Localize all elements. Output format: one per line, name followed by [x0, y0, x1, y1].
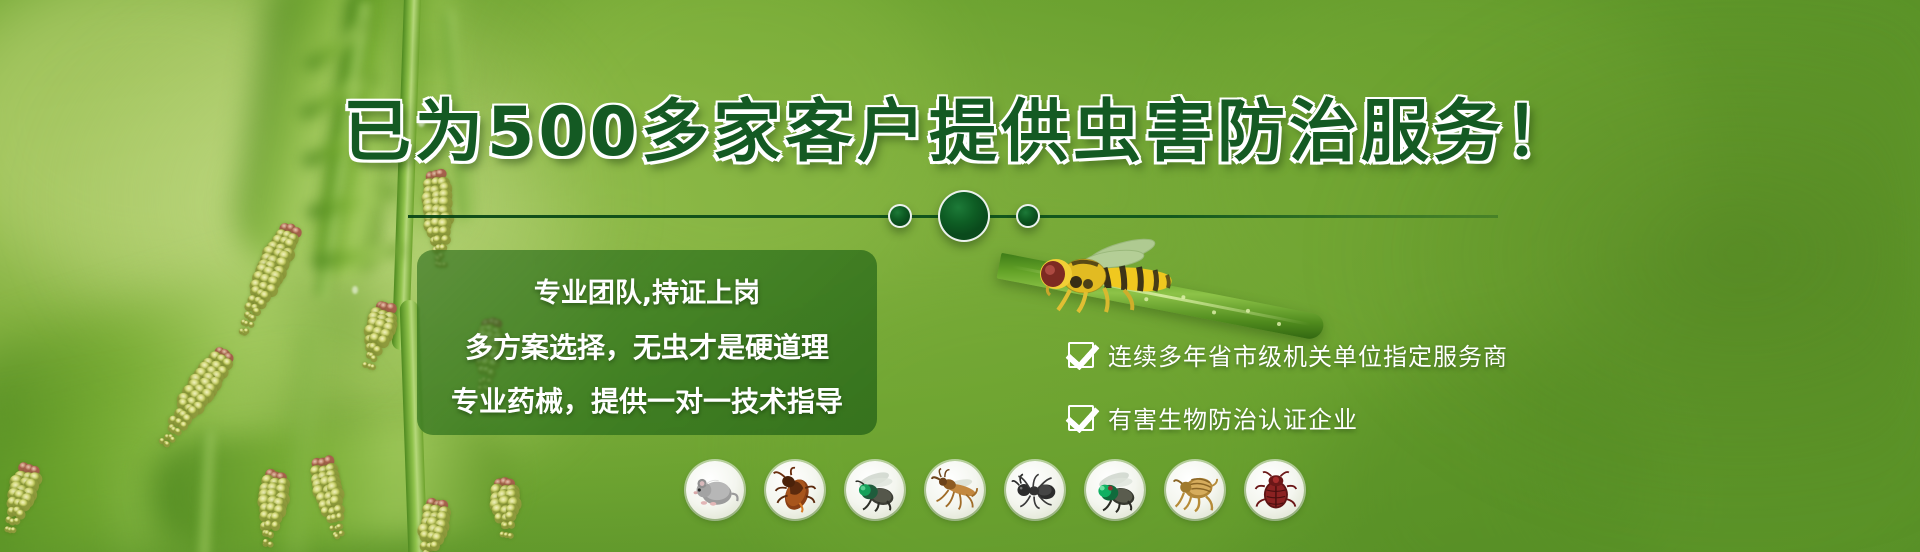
- list-item: 连续多年省市级机关单位指定服务商: [1068, 337, 1508, 372]
- cockroach-icon[interactable]: [766, 461, 824, 519]
- checklist-label: 连续多年省市级机关单位指定服务商: [1108, 337, 1508, 372]
- pest-icon-row: [686, 461, 1304, 519]
- catkin-spike: [418, 498, 447, 552]
- blowfly-icon[interactable]: [1086, 461, 1144, 519]
- feature-highlight-box: 专业团队,持证上岗 多方案选择，无虫才是硬道理 专业药械，提供一对一技术指导: [417, 250, 877, 435]
- bedbug-icon[interactable]: [1246, 461, 1304, 519]
- dot-small-left: [888, 204, 912, 228]
- housefly-icon[interactable]: [846, 461, 904, 519]
- mosquito-icon[interactable]: [926, 461, 984, 519]
- mouse-icon[interactable]: [686, 461, 744, 519]
- checkmark-icon: [1068, 405, 1094, 431]
- checklist-label: 有害生物防治认证企业: [1108, 400, 1358, 435]
- dew-drop: [352, 286, 358, 294]
- list-item: 有害生物防治认证企业: [1068, 400, 1508, 435]
- dot-small-right: [1016, 204, 1040, 228]
- page-title-text: 已为500多家客户提供虫害防治服务！: [343, 93, 1577, 172]
- flea-icon[interactable]: [1166, 461, 1224, 519]
- feature-line-2: 多方案选择，无虫才是硬道理: [417, 326, 877, 366]
- hoverfly-icon: [1018, 238, 1198, 316]
- pest-control-banner: 已为500多家客户提供虫害防治服务！ 专业团队,持证上岗 多方案选择，无虫才是硬…: [0, 0, 1920, 552]
- feature-line-3: 专业药械，提供一对一技术指导: [417, 380, 877, 420]
- dot-large-center: [938, 190, 990, 242]
- checklist: 连续多年省市级机关单位指定服务商 有害生物防治认证企业: [1068, 337, 1508, 435]
- catkin-spike: [496, 478, 516, 541]
- feature-line-1: 专业团队,持证上岗: [417, 271, 877, 310]
- checkmark-icon: [1068, 342, 1094, 368]
- ant-icon[interactable]: [1006, 461, 1064, 519]
- decorative-dots: [888, 190, 1040, 242]
- page-title: 已为500多家客户提供虫害防治服务！: [0, 76, 1920, 175]
